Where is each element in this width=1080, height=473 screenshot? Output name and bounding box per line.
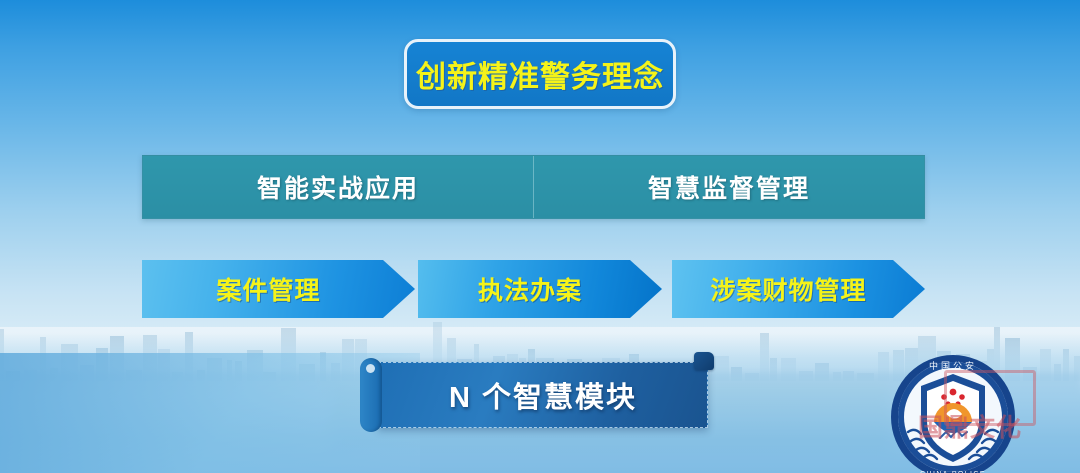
slide-canvas: 创新精准警务理念 智能实战应用 智慧监督管理 案件管理 执法办案 涉案财物管理 … bbox=[0, 0, 1080, 473]
police-badge-icon: 中国公安 CHINA POLICE bbox=[888, 352, 1018, 473]
arrow-step-label: 涉案财物管理 bbox=[710, 271, 866, 307]
category-band: 智能实战应用 智慧监督管理 bbox=[142, 155, 925, 219]
arrow-step-label: 执法办案 bbox=[478, 271, 582, 307]
scroll-roll-left-icon bbox=[360, 358, 382, 432]
banner-sheet: N 个智慧模块 bbox=[378, 362, 708, 428]
modules-scroll-banner[interactable]: N 个智慧模块 bbox=[360, 358, 708, 432]
arrow-step-law-enforcement-handling[interactable]: 执法办案 bbox=[418, 260, 662, 318]
scroll-roll-right-icon bbox=[694, 352, 714, 370]
svg-text:中国公安: 中国公安 bbox=[929, 360, 977, 371]
slide-title-pill: 创新精准警务理念 bbox=[404, 39, 676, 109]
arrow-step-case-property-management[interactable]: 涉案财物管理 bbox=[672, 260, 925, 318]
banner-label: N 个智慧模块 bbox=[449, 374, 637, 416]
category-label: 智能实战应用 bbox=[257, 169, 419, 205]
page-title: 创新精准警务理念 bbox=[416, 52, 664, 96]
arrow-step-case-management[interactable]: 案件管理 bbox=[142, 260, 415, 318]
category-cell-intelligent-application[interactable]: 智能实战应用 bbox=[143, 156, 533, 218]
category-label: 智慧监督管理 bbox=[648, 169, 810, 205]
arrow-step-label: 案件管理 bbox=[216, 271, 320, 307]
river-bay-layer bbox=[0, 353, 420, 473]
process-arrow-row: 案件管理 执法办案 涉案财物管理 bbox=[0, 260, 1080, 318]
category-cell-supervision-management[interactable]: 智慧监督管理 bbox=[533, 156, 924, 218]
